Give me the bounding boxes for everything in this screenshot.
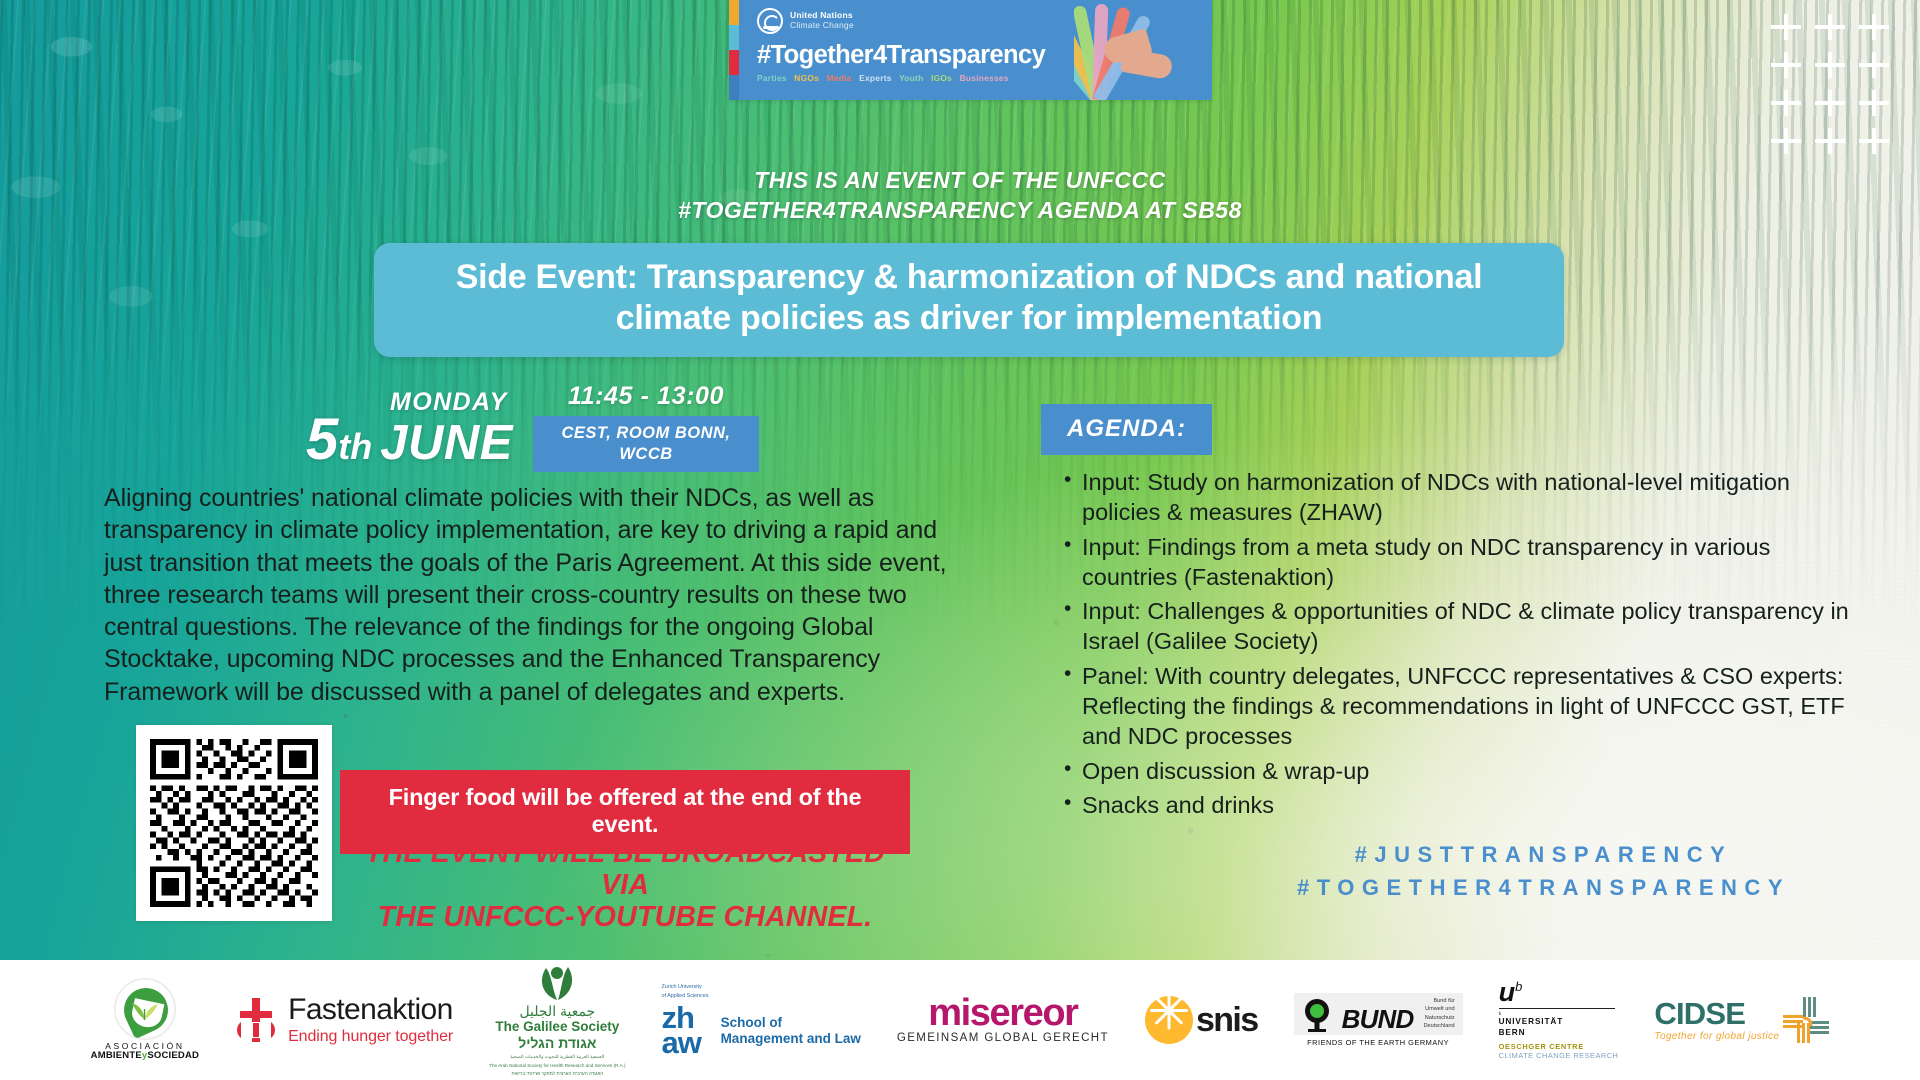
plus-icon <box>1764 46 1808 84</box>
climate-change-research-line: CLIMATE CHANGE RESEARCH <box>1499 1051 1619 1060</box>
unibern-line2: BERN <box>1499 1028 1526 1039</box>
unfccc-together4transparency-banner: United Nations Climate Change #Together4… <box>729 0 1212 100</box>
side-event-title-bar: Side Event: Transparency & harmonization… <box>374 243 1564 357</box>
cidse-weave-icon <box>1783 997 1829 1043</box>
broadcast-line2: THE UNFCCC-YOUTUBE CHANNEL. <box>340 902 910 934</box>
side-event-title-line1: Side Event: Transparency & harmonization… <box>400 257 1538 298</box>
event-of-line2: #TOGETHER4TRANSPARENCY AGENDA AT SB58 <box>0 195 1920 225</box>
galilee-society-emblem-icon <box>534 962 580 1002</box>
banner-hands-illustration <box>1074 0 1212 100</box>
event-of-line1: THIS IS AN EVENT OF THE UNFCCC <box>0 165 1920 195</box>
banner-tag: Businesses <box>960 73 1009 83</box>
plus-icon <box>1852 84 1896 122</box>
bund-wordmark: BUND <box>1342 1006 1414 1032</box>
agenda-item: Snacks and drinks <box>1062 791 1852 821</box>
event-room-badge: CEST, ROOM BONN, WCCB <box>533 416 759 472</box>
zhaw-mark: Zurich University of Applied Sciences zh… <box>662 984 709 1055</box>
logo-universitat-bern-oeschger-centre: ub b UNIVERSITÄT BERN OESCHGER CENTRE CL… <box>1499 980 1619 1061</box>
logo-asociacion-ambiente-y-sociedad: ASOCIACIÓN AMBIENTEySOCIEDAD <box>91 978 199 1062</box>
zhaw-sup-line2: of Applied Sciences <box>662 993 709 1000</box>
event-poster: United Nations Climate Change #Together4… <box>0 0 1920 1080</box>
logo-fastenaktion: Fastenaktion Ending hunger together <box>235 995 453 1046</box>
zhaw-school-name: School of Management and Law <box>721 1015 861 1056</box>
zhaw-school-line2: Management and Law <box>721 1031 861 1047</box>
plus-icon <box>1764 8 1808 46</box>
date-day-number: 5 <box>306 407 338 472</box>
fastenaktion-wordmark: Fastenaktion Ending hunger together <box>288 995 453 1046</box>
agenda-item: Input: Study on harmonization of NDCs wi… <box>1062 468 1852 528</box>
agenda-item: Panel: With country delegates, UNFCCC re… <box>1062 662 1852 752</box>
event-time-range: 11:45 - 13:00 <box>533 382 759 411</box>
banner-color-stripes <box>729 0 739 100</box>
cidse-tagline: Together for global justice <box>1654 1032 1779 1042</box>
unibern-u-mark: ub <box>1499 980 1523 1004</box>
unibern-rule <box>1499 1008 1615 1009</box>
event-description: Aligning countries' national climate pol… <box>104 482 959 708</box>
zhaw-school-line1: School of <box>721 1015 861 1031</box>
logo-misereor: misereor GEMEINSAM GLOBAL GERECHT <box>897 996 1109 1044</box>
bund-sub-line1: Bund für <box>1424 997 1455 1005</box>
logo-snis: snis <box>1145 996 1258 1044</box>
unibern-line1: UNIVERSITÄT <box>1499 1017 1564 1028</box>
galilee-hebrew-name: אגודת הגליל <box>489 1035 625 1052</box>
date-main: 5thJUNE <box>306 413 513 466</box>
cidse-wordmark: CIDSE <box>1654 998 1779 1029</box>
agenda-list: Input: Study on harmonization of NDCs wi… <box>1062 468 1852 826</box>
banner-tag: Experts <box>859 73 891 83</box>
side-event-title-line2: climate policies as driver for implement… <box>400 298 1538 339</box>
snis-sunburst-icon <box>1145 996 1193 1044</box>
banner-tag: Youth <box>899 73 923 83</box>
unfccc-globe-icon <box>757 8 783 34</box>
partner-logo-strip: ASOCIACIÓN AMBIENTEySOCIEDAD Fastenaktio… <box>0 960 1920 1080</box>
bund-tree-circle-icon <box>1302 998 1332 1032</box>
banner-tag: Media <box>827 73 852 83</box>
plus-icon <box>1808 84 1852 122</box>
fastenaktion-name: Fastenaktion <box>288 995 453 1025</box>
asociacion-wordmark: ASOCIACIÓN AMBIENTEySOCIEDAD <box>91 1042 199 1062</box>
galilee-small-line3: האגודה הערבית הארצית למחקר ושירותי בריאו… <box>489 1071 625 1078</box>
cidse-wordmark-block: CIDSE Together for global justice <box>1654 998 1779 1042</box>
plus-icon <box>1808 46 1852 84</box>
galilee-english-name: The Galilee Society <box>489 1019 625 1035</box>
zhaw-letters-aw: aw <box>662 1030 709 1055</box>
bund-sub-line2: Umwelt und <box>1424 1005 1455 1013</box>
bund-sub-line3: Naturschutz <box>1424 1014 1455 1022</box>
plus-icon <box>1852 122 1896 160</box>
zhaw-sup-line1: Zurich University <box>662 984 709 991</box>
misereor-tagline: GEMEINSAM GLOBAL GERECHT <box>897 1032 1109 1044</box>
misereor-wordmark: misereor <box>928 996 1077 1030</box>
logo-zhaw-school-of-management-and-law: Zurich University of Applied Sciences zh… <box>662 984 861 1055</box>
date-day-suffix: th <box>338 426 372 467</box>
event-of-unfccc-label: THIS IS AN EVENT OF THE UNFCCC #TOGETHER… <box>0 165 1920 226</box>
agenda-item: Open discussion & wrap-up <box>1062 757 1852 787</box>
bund-subtitle: Bund für Umwelt und Naturschutz Deutschl… <box>1424 997 1455 1033</box>
bund-footer-text: FRIENDS OF THE EARTH GERMANY <box>1294 1038 1463 1047</box>
agenda-item: Input: Challenges & opportunities of NDC… <box>1062 597 1852 657</box>
plus-icon <box>1852 46 1896 84</box>
plus-icon <box>1852 8 1896 46</box>
banner-tag: Parties <box>757 73 787 83</box>
date-month: JUNE <box>380 416 513 470</box>
bund-sub-line4: Deutschland <box>1424 1022 1455 1030</box>
oeschger-centre-line: OESCHGER CENTRE <box>1499 1042 1584 1051</box>
banner-tag: NGOs <box>794 73 819 83</box>
snis-wordmark: snis <box>1196 1001 1258 1040</box>
hashtag-justtransparency: #JUSTTRANSPARENCY <box>1297 838 1790 871</box>
hashtags-block: #JUSTTRANSPARENCY #TOGETHER4TRANSPARENCY <box>1297 838 1790 904</box>
agenda-heading-badge: AGENDA: <box>1041 404 1212 455</box>
plus-icon <box>1808 8 1852 46</box>
unfccc-org-line2: Climate Change <box>790 21 854 31</box>
fastenaktion-cross-icon <box>235 996 277 1044</box>
galilee-arabic-name: جمعية الجليل <box>489 1003 625 1020</box>
event-time-and-room: 11:45 - 13:00 CEST, ROOM BONN, WCCB <box>533 382 759 472</box>
plus-icon <box>1764 84 1808 122</box>
qr-code-card[interactable] <box>136 725 332 921</box>
asociacion-line2: AMBIENTEySOCIEDAD <box>91 1051 199 1062</box>
logo-bund-friends-of-the-earth-germany: BUND Bund für Umwelt und Naturschutz Deu… <box>1294 993 1463 1048</box>
galilee-small-line1: الجمعية العربية القطرية للبحوث والخدمات … <box>489 1054 625 1061</box>
event-date: MONDAY 5thJUNE <box>306 388 513 466</box>
banner-body: United Nations Climate Change #Together4… <box>739 0 1212 100</box>
fastenaktion-tagline: Ending hunger together <box>288 1028 453 1046</box>
asociacion-leaf-hand-icon <box>114 978 176 1040</box>
logo-the-galilee-society: جمعية الجليل The Galilee Society אגודת ה… <box>489 962 625 1079</box>
unfccc-wordmark: United Nations Climate Change <box>790 11 854 31</box>
plus-icon <box>1764 122 1808 160</box>
logo-cidse: CIDSE Together for global justice <box>1654 997 1829 1043</box>
plus-pattern-decoration <box>1764 8 1896 160</box>
banner-tag: IGOs <box>931 73 952 83</box>
galilee-society-wordmark: جمعية الجليل The Galilee Society אגודת ה… <box>489 1003 625 1079</box>
plus-icon <box>1808 122 1852 160</box>
qr-code-icon[interactable] <box>150 739 318 907</box>
hashtag-together4transparency: #TOGETHER4TRANSPARENCY <box>1297 871 1790 904</box>
agenda-item: Input: Findings from a meta study on NDC… <box>1062 533 1852 593</box>
bund-mark-box: BUND Bund für Umwelt und Naturschutz Deu… <box>1294 993 1463 1036</box>
broadcast-notice: THE EVENT WILL BE BROADCASTED VIA THE UN… <box>340 838 910 934</box>
leaf-sprout-icon <box>130 999 160 1021</box>
broadcast-line1: THE EVENT WILL BE BROADCASTED VIA <box>340 838 910 902</box>
galilee-small-line2: The Arab National Society for Health Res… <box>489 1063 625 1070</box>
